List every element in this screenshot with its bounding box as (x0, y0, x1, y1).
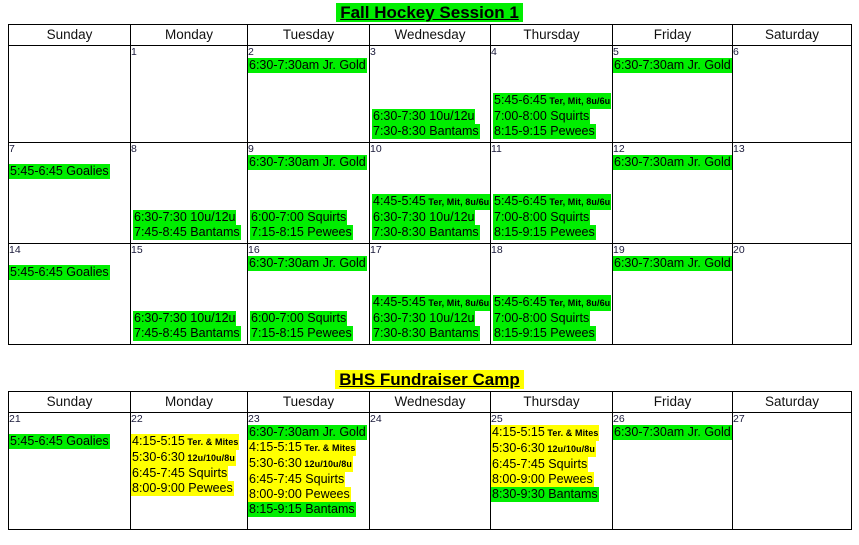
event-time-label: 6:45-7:45 Squirts (249, 472, 344, 486)
day-events: 4:45-5:45 Ter, Mit, 8u/6u6:30-7:30 10u/1… (372, 194, 488, 240)
calendar-event: 6:30-7:30 10u/12u (372, 109, 475, 124)
calendar-title-text: BHS Fundraiser Camp (335, 370, 523, 389)
day-of-week-header: Monday (131, 25, 248, 46)
calendar-event: 6:30-7:30 10u/12u (133, 311, 236, 326)
calendar-day-cell[interactable]: 1 (131, 46, 248, 143)
calendar-event: 8:00-9:00 Pewees (131, 481, 234, 496)
day-events-top: 6:30-7:30am Jr. Gold (248, 155, 369, 170)
calendar-event: 6:30-7:30am Jr. Gold (613, 256, 732, 271)
calendar-event: 5:45-6:45 Goalies (9, 434, 110, 449)
calendar-event: 4:15-5:15 Ter. & Mites (131, 434, 239, 450)
calendar-event: 7:45-8:45 Bantams (133, 225, 241, 240)
event-time-label: 4:15-5:15 (249, 440, 302, 454)
calendar-day-cell[interactable]: 224:15-5:15 Ter. & Mites5:30-6:30 12u/10… (131, 413, 248, 530)
calendar-event: 6:30-7:30 10u/12u (372, 311, 475, 326)
event-time-label: 5:45-6:45 (494, 194, 547, 208)
day-number: 9 (248, 143, 369, 155)
day-of-week-header: Wednesday (370, 392, 491, 413)
calendar-day-cell[interactable]: 45:45-6:45 Ter, Mit, 8u/6u7:00-8:00 Squi… (491, 46, 613, 143)
day-events: 5:45-6:45 Ter, Mit, 8u/6u7:00-8:00 Squir… (493, 194, 610, 240)
day-events: 5:45-6:45 Goalies (9, 265, 130, 280)
calendar-event: 6:30-7:30am Jr. Gold (248, 155, 367, 170)
calendar-event: 8:15-9:15 Pewees (493, 225, 596, 240)
event-time-label: 7:00-8:00 Squirts (494, 311, 589, 325)
day-number: 15 (131, 244, 247, 256)
day-number: 8 (131, 143, 247, 155)
calendar-day-cell[interactable]: 75:45-6:45 Goalies (9, 143, 131, 244)
calendar-event: 8:00-9:00 Pewees (248, 487, 351, 502)
calendar-table: SundayMondayTuesdayWednesdayThursdayFrid… (8, 391, 852, 530)
event-time-label: 7:30-8:30 Bantams (373, 225, 479, 239)
day-events: 5:45-6:45 Goalies (9, 164, 130, 179)
event-time-label: 4:45-5:45 (373, 194, 426, 208)
calendar-event: 6:30-7:30am Jr. Gold (613, 425, 732, 440)
calendar-day-cell[interactable]: 266:30-7:30am Jr. Gold (613, 413, 733, 530)
calendar-event: 6:45-7:45 Squirts (491, 457, 588, 472)
calendar-event: 8:15-9:15 Bantams (248, 502, 356, 517)
calendar-event: 4:15-5:15 Ter. & Mites (248, 440, 356, 456)
day-events: 4:15-5:15 Ter. & Mites5:30-6:30 12u/10u/… (491, 425, 612, 502)
calendar-event: 6:30-7:30am Jr. Gold (248, 58, 367, 73)
event-time-label: 8:15-9:15 Bantams (249, 502, 355, 516)
calendar-event: 4:45-5:45 Ter, Mit, 8u/6u (372, 295, 490, 311)
day-of-week-header: Monday (131, 392, 248, 413)
calendar-event: 4:15-5:15 Ter. & Mites (491, 425, 599, 441)
event-group-label: Ter, Mit, 8u/6u (547, 298, 610, 308)
event-time-label: 6:30-7:30 10u/12u (134, 210, 235, 224)
day-number: 11 (491, 143, 612, 155)
calendar-event: 5:45-6:45 Ter, Mit, 8u/6u (493, 295, 611, 311)
day-number: 1 (131, 46, 247, 58)
event-time-label: 7:15-8:15 Pewees (251, 326, 352, 340)
event-time-label: 7:15-8:15 Pewees (251, 225, 352, 239)
day-events-top: 6:30-7:30am Jr. Gold (248, 256, 369, 271)
day-events: 6:30-7:30am Jr. Gold4:15-5:15 Ter. & Mit… (248, 425, 369, 517)
day-events: 6:30-7:30am Jr. Gold (613, 155, 732, 170)
day-number: 23 (248, 413, 369, 425)
calendar-week-row: 215:45-6:45 Goalies224:15-5:15 Ter. & Mi… (9, 413, 852, 530)
event-time-label: 6:30-7:30am Jr. Gold (249, 425, 366, 439)
event-group-label: 12u/10u/8u (545, 444, 595, 454)
calendar-day-cell[interactable]: 24 (370, 413, 491, 530)
day-number: 4 (491, 46, 612, 58)
calendar-event: 7:15-8:15 Pewees (250, 225, 353, 240)
day-number: 5 (613, 46, 732, 58)
day-of-week-header: Saturday (733, 25, 852, 46)
calendar-day-cell[interactable]: 156:30-7:30 10u/12u7:45-8:45 Bantams (131, 244, 248, 345)
event-time-label: 6:45-7:45 Squirts (492, 457, 587, 471)
calendar-event: 6:30-7:30am Jr. Gold (613, 58, 732, 73)
calendar-event: 5:45-6:45 Ter, Mit, 8u/6u (493, 194, 611, 210)
day-of-week-header: Tuesday (248, 392, 370, 413)
event-group-label: Ter, Mit, 8u/6u (426, 298, 489, 308)
calendar-event: 5:45-6:45 Goalies (9, 164, 110, 179)
day-of-week-header: Friday (613, 392, 733, 413)
day-events-bottom: 6:00-7:00 Squirts7:15-8:15 Pewees (250, 311, 367, 341)
event-group-label: Ter. & Mites (545, 428, 599, 438)
day-number: 14 (9, 244, 130, 256)
day-events: 6:30-7:30 10u/12u7:30-8:30 Bantams (372, 109, 488, 139)
day-number: 2 (248, 46, 369, 58)
calendar-event: 6:30-7:30am Jr. Gold (248, 256, 367, 271)
day-number: 19 (613, 244, 732, 256)
event-time-label: 6:30-7:30am Jr. Gold (614, 256, 731, 270)
calendar-day-cell[interactable]: 56:30-7:30am Jr. Gold (613, 46, 733, 143)
calendar-event: 8:00-9:00 Pewees (491, 472, 594, 487)
day-number: 24 (370, 413, 490, 425)
day-number: 3 (370, 46, 490, 58)
calendar-event: 5:30-6:30 12u/10u/8u (248, 456, 353, 472)
calendar-event: 4:45-5:45 Ter, Mit, 8u/6u (372, 194, 490, 210)
calendar-header-row: SundayMondayTuesdayWednesdayThursdayFrid… (9, 392, 852, 413)
day-events: 6:30-7:30am Jr. Gold (613, 425, 732, 440)
event-time-label: 8:30-9:30 Bantams (492, 487, 598, 501)
calendar-event: 5:45-6:45 Goalies (9, 265, 110, 280)
calendar-week-row: 126:30-7:30am Jr. Gold36:30-7:30 10u/12u… (9, 46, 852, 143)
day-number: 21 (9, 413, 130, 425)
event-time-label: 5:45-6:45 Goalies (10, 164, 109, 178)
day-of-week-header: Wednesday (370, 25, 491, 46)
day-of-week-header: Sunday (9, 392, 131, 413)
calendar-spacer (0, 345, 859, 367)
event-time-label: 6:30-7:30 10u/12u (134, 311, 235, 325)
day-events: 4:45-5:45 Ter, Mit, 8u/6u6:30-7:30 10u/1… (372, 295, 488, 341)
event-group-label: Ter. & Mites (302, 443, 356, 453)
calendar-event: 5:45-6:45 Ter, Mit, 8u/6u (493, 93, 611, 109)
day-of-week-header: Tuesday (248, 25, 370, 46)
calendar-day-cell[interactable]: 6 (733, 46, 852, 143)
calendar-event: 8:15-9:15 Pewees (493, 124, 596, 139)
calendar-day-cell[interactable]: 20 (733, 244, 852, 345)
day-number: 16 (248, 244, 369, 256)
day-number: 12 (613, 143, 732, 155)
event-time-label: 8:15-9:15 Pewees (494, 326, 595, 340)
event-time-label: 6:30-7:30 10u/12u (373, 311, 474, 325)
calendar-page: Fall Hockey Session 1SundayMondayTuesday… (0, 0, 859, 545)
calendar-day-cell[interactable]: 166:30-7:30am Jr. Gold6:00-7:00 Squirts7… (248, 244, 370, 345)
event-group-label: Ter, Mit, 8u/6u (426, 197, 489, 207)
calendar-day-cell[interactable]: 115:45-6:45 Ter, Mit, 8u/6u7:00-8:00 Squ… (491, 143, 613, 244)
event-time-label: 5:30-6:30 (249, 456, 302, 470)
day-events: 4:15-5:15 Ter. & Mites5:30-6:30 12u/10u/… (131, 434, 247, 496)
calendar-day-cell[interactable]: 36:30-7:30 10u/12u7:30-8:30 Bantams (370, 46, 491, 143)
calendar-day-cell[interactable]: 215:45-6:45 Goalies (9, 413, 131, 530)
day-number: 13 (733, 143, 851, 155)
day-number: 10 (370, 143, 490, 155)
day-number: 25 (491, 413, 612, 425)
day-number: 27 (733, 413, 851, 425)
calendar-day-cell[interactable]: 254:15-5:15 Ter. & Mites5:30-6:30 12u/10… (491, 413, 613, 530)
calendar-week-row: 145:45-6:45 Goalies156:30-7:30 10u/12u7:… (9, 244, 852, 345)
calendar-event: 8:30-9:30 Bantams (491, 487, 599, 502)
calendar-event: 7:30-8:30 Bantams (372, 124, 480, 139)
calendar-event: 6:45-7:45 Squirts (248, 472, 345, 487)
calendar-event: 6:30-7:30 10u/12u (133, 210, 236, 225)
calendar-event: 6:30-7:30am Jr. Gold (613, 155, 732, 170)
calendar-event: 6:00-7:00 Squirts (250, 210, 347, 225)
day-number: 18 (491, 244, 612, 256)
calendar-event: 8:15-9:15 Pewees (493, 326, 596, 341)
day-events: 6:30-7:30am Jr. Gold (248, 58, 369, 73)
event-time-label: 5:30-6:30 (492, 441, 545, 455)
calendar-day-cell[interactable]: 236:30-7:30am Jr. Gold4:15-5:15 Ter. & M… (248, 413, 370, 530)
calendar-event: 5:30-6:30 12u/10u/8u (491, 441, 596, 457)
event-time-label: 6:30-7:30am Jr. Gold (614, 155, 731, 169)
calendar-event: 7:00-8:00 Squirts (493, 109, 590, 124)
calendar-week-row: 75:45-6:45 Goalies86:30-7:30 10u/12u7:45… (9, 143, 852, 244)
event-time-label: 8:00-9:00 Pewees (492, 472, 593, 486)
event-time-label: 6:30-7:30am Jr. Gold (249, 256, 366, 270)
event-time-label: 8:15-9:15 Pewees (494, 225, 595, 239)
event-time-label: 6:00-7:00 Squirts (251, 210, 346, 224)
day-number (9, 46, 130, 58)
day-events: 6:30-7:30am Jr. Gold (613, 256, 732, 271)
event-time-label: 7:30-8:30 Bantams (373, 326, 479, 340)
calendar-event: 5:30-6:30 12u/10u/8u (131, 450, 236, 466)
event-group-label: Ter, Mit, 8u/6u (547, 96, 610, 106)
calendar-day-cell[interactable]: 96:30-7:30am Jr. Gold6:00-7:00 Squirts7:… (248, 143, 370, 244)
event-group-label: 12u/10u/8u (302, 459, 352, 469)
calendar-day-cell[interactable] (9, 46, 131, 143)
calendar-title: BHS Fundraiser Camp (0, 367, 859, 391)
event-time-label: 6:00-7:00 Squirts (251, 311, 346, 325)
calendar-day-cell[interactable]: 174:45-5:45 Ter, Mit, 8u/6u6:30-7:30 10u… (370, 244, 491, 345)
event-time-label: 4:45-5:45 (373, 295, 426, 309)
event-time-label: 4:15-5:15 (132, 434, 185, 448)
calendar-title: Fall Hockey Session 1 (0, 0, 859, 24)
calendar-day-cell[interactable]: 104:45-5:45 Ter, Mit, 8u/6u6:30-7:30 10u… (370, 143, 491, 244)
event-time-label: 7:00-8:00 Squirts (494, 210, 589, 224)
day-number: 7 (9, 143, 130, 155)
calendar-event: 7:00-8:00 Squirts (493, 311, 590, 326)
calendar-day-cell[interactable]: 26:30-7:30am Jr. Gold (248, 46, 370, 143)
event-time-label: 6:30-7:30am Jr. Gold (249, 58, 366, 72)
day-events: 5:45-6:45 Ter, Mit, 8u/6u7:00-8:00 Squir… (493, 93, 610, 139)
event-time-label: 5:30-6:30 (132, 450, 185, 464)
event-time-label: 8:00-9:00 Pewees (132, 481, 233, 495)
event-time-label: 6:30-7:30am Jr. Gold (614, 425, 731, 439)
calendar-day-cell[interactable]: 126:30-7:30am Jr. Gold (613, 143, 733, 244)
day-events: 5:45-6:45 Ter, Mit, 8u/6u7:00-8:00 Squir… (493, 295, 610, 341)
event-time-label: 6:30-7:30am Jr. Gold (249, 155, 366, 169)
event-time-label: 7:00-8:00 Squirts (494, 109, 589, 123)
calendar-table: SundayMondayTuesdayWednesdayThursdayFrid… (8, 24, 852, 345)
day-events: 5:45-6:45 Goalies (9, 434, 130, 449)
day-of-week-header: Thursday (491, 25, 613, 46)
calendar-event: 6:00-7:00 Squirts (250, 311, 347, 326)
event-group-label: 12u/10u/8u (185, 453, 235, 463)
calendar-event: 7:30-8:30 Bantams (372, 326, 480, 341)
day-events-bottom: 6:00-7:00 Squirts7:15-8:15 Pewees (250, 210, 367, 240)
calendar-day-cell[interactable]: 86:30-7:30 10u/12u7:45-8:45 Bantams (131, 143, 248, 244)
event-time-label: 7:30-8:30 Bantams (373, 124, 479, 138)
event-time-label: 5:45-6:45 Goalies (10, 265, 109, 279)
event-group-label: Ter. & Mites (185, 437, 239, 447)
day-number: 20 (733, 244, 851, 256)
calendar-day-cell[interactable]: 185:45-6:45 Ter, Mit, 8u/6u7:00-8:00 Squ… (491, 244, 613, 345)
calendar-header-row: SundayMondayTuesdayWednesdayThursdayFrid… (9, 25, 852, 46)
event-time-label: 7:45-8:45 Bantams (134, 225, 240, 239)
day-events: 6:30-7:30am Jr. Gold (613, 58, 732, 73)
day-events: 6:30-7:30 10u/12u7:45-8:45 Bantams (133, 210, 245, 240)
day-of-week-header: Sunday (9, 25, 131, 46)
event-time-label: 7:45-8:45 Bantams (134, 326, 240, 340)
calendar-title-text: Fall Hockey Session 1 (336, 3, 523, 22)
event-time-label: 8:15-9:15 Pewees (494, 124, 595, 138)
event-time-label: 5:45-6:45 Goalies (10, 434, 109, 448)
calendar-event: 6:45-7:45 Squirts (131, 466, 228, 481)
event-time-label: 6:30-7:30 10u/12u (373, 109, 474, 123)
event-time-label: 4:15-5:15 (492, 425, 545, 439)
calendar-day-cell[interactable]: 145:45-6:45 Goalies (9, 244, 131, 345)
calendar-day-cell[interactable]: 13 (733, 143, 852, 244)
event-time-label: 6:45-7:45 Squirts (132, 466, 227, 480)
calendar-event: 6:30-7:30 10u/12u (372, 210, 475, 225)
event-group-label: Ter, Mit, 8u/6u (547, 197, 610, 207)
day-number: 6 (733, 46, 851, 58)
day-number: 26 (613, 413, 732, 425)
calendar-event: 7:15-8:15 Pewees (250, 326, 353, 341)
day-of-week-header: Thursday (491, 392, 613, 413)
day-of-week-header: Saturday (733, 392, 852, 413)
event-time-label: 5:45-6:45 (494, 295, 547, 309)
event-time-label: 6:30-7:30 10u/12u (373, 210, 474, 224)
calendar-event: 7:45-8:45 Bantams (133, 326, 241, 341)
calendar-event: 7:00-8:00 Squirts (493, 210, 590, 225)
day-number: 22 (131, 413, 247, 425)
event-time-label: 8:00-9:00 Pewees (249, 487, 350, 501)
calendars-root: Fall Hockey Session 1SundayMondayTuesday… (0, 0, 859, 530)
day-number: 17 (370, 244, 490, 256)
calendar-day-cell[interactable]: 196:30-7:30am Jr. Gold (613, 244, 733, 345)
event-time-label: 5:45-6:45 (494, 93, 547, 107)
event-time-label: 6:30-7:30am Jr. Gold (614, 58, 731, 72)
day-of-week-header: Friday (613, 25, 733, 46)
calendar-event: 7:30-8:30 Bantams (372, 225, 480, 240)
calendar-event: 6:30-7:30am Jr. Gold (248, 425, 367, 440)
day-events: 6:30-7:30 10u/12u7:45-8:45 Bantams (133, 311, 245, 341)
calendar-day-cell[interactable]: 27 (733, 413, 852, 530)
